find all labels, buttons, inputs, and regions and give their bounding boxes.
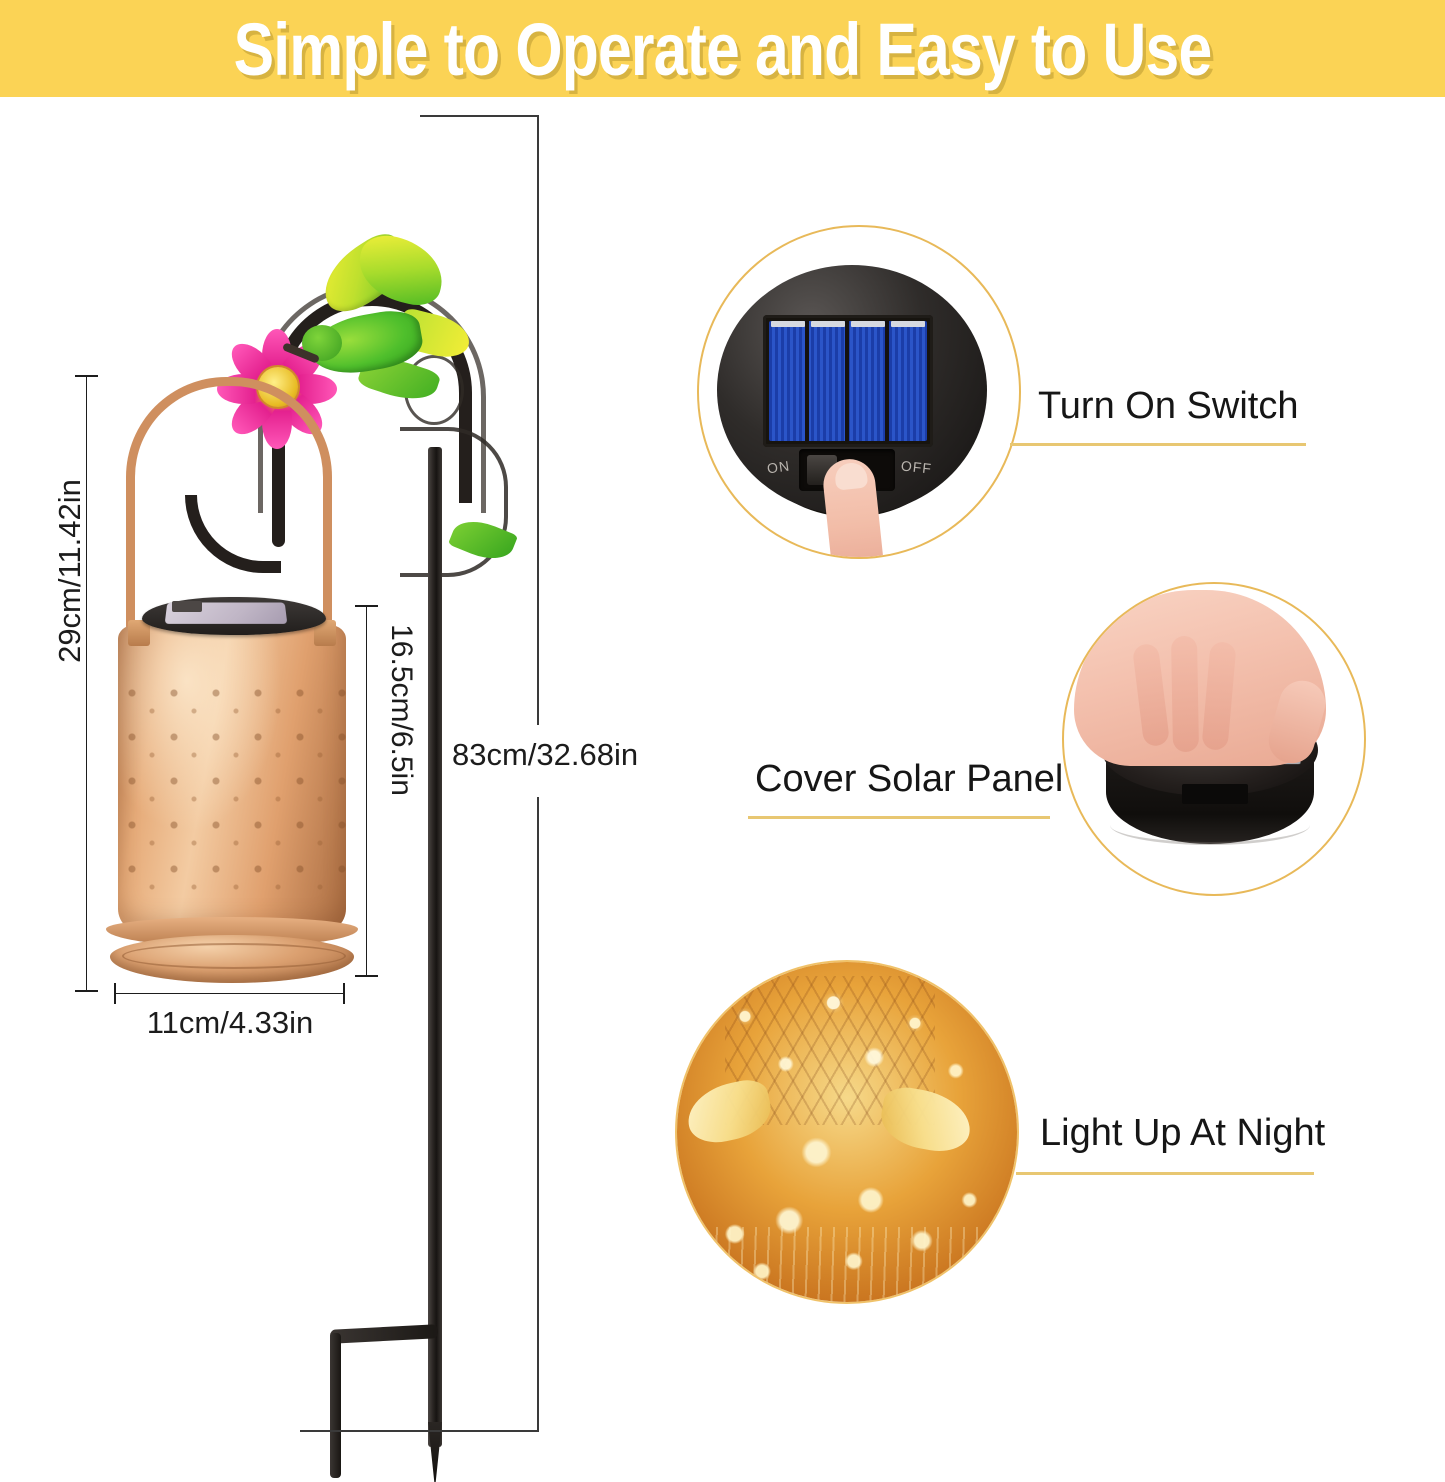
solar-cap-ring [1110, 808, 1310, 845]
solar-cell-gap [805, 321, 809, 441]
product-dimension-panel: 29cm/11.42in 16.5cm/6.5in 11cm/4.33in 83… [0, 97, 660, 1437]
dimension-label-body-height: 16.5cm/6.5in [384, 610, 418, 810]
callout-label-turn-on-switch: Turn On Switch [1038, 385, 1298, 428]
switch-label-on: ON [766, 457, 791, 476]
callout-image-turn-on-switch: ON OFF [697, 225, 1021, 559]
solar-busbar [811, 321, 845, 327]
stake-foot-leg [330, 1333, 341, 1478]
callout-label-light-up-at-night: Light Up At Night [1040, 1112, 1325, 1155]
callout-label-cover-solar-panel: Cover Solar Panel [755, 758, 1063, 801]
hand-finger [1171, 636, 1199, 752]
callout-image-light-up-at-night [675, 960, 1019, 1304]
dimension-line-lantern-width [114, 993, 345, 994]
dimension-line-stake-lower [537, 797, 539, 1432]
dimension-cap-top [420, 115, 539, 117]
grass-cutout-pattern [677, 1227, 1017, 1302]
solar-busbar [771, 321, 805, 327]
dimension-line-body-height [366, 605, 367, 977]
stake-pole [428, 447, 442, 1447]
solar-busbar [891, 321, 925, 327]
dimension-line-stake-upper [537, 115, 539, 725]
dimension-label-stake-height: 83cm/32.68in [452, 737, 638, 773]
solar-busbar [851, 321, 885, 327]
infographic-page: Simple to Operate and Easy to Use [0, 0, 1445, 1437]
dimension-label-lantern-height: 29cm/11.42in [52, 461, 88, 681]
stake-foot-step [330, 1324, 439, 1344]
switch-label-off: OFF [900, 457, 933, 476]
dimension-cap-bottom [300, 1430, 539, 1432]
header-band: Simple to Operate and Easy to Use [0, 0, 1445, 97]
callout-rule-light-up-at-night [1016, 1172, 1314, 1175]
lantern-base-ring [122, 943, 346, 969]
solar-cell-gap [845, 321, 849, 441]
dimension-label-lantern-width: 11cm/4.33in [100, 1005, 360, 1041]
page-title: Simple to Operate and Easy to Use [130, 4, 1315, 96]
lantern-cap-notch [172, 601, 202, 612]
lantern-body [118, 625, 346, 935]
solar-cell-gap [885, 321, 889, 441]
callout-rule-cover-solar-panel [748, 816, 1050, 819]
callout-image-cover-solar-panel [1062, 582, 1366, 896]
callout-rule-turn-on-switch [1010, 443, 1306, 446]
power-switch-well[interactable] [1182, 784, 1248, 804]
